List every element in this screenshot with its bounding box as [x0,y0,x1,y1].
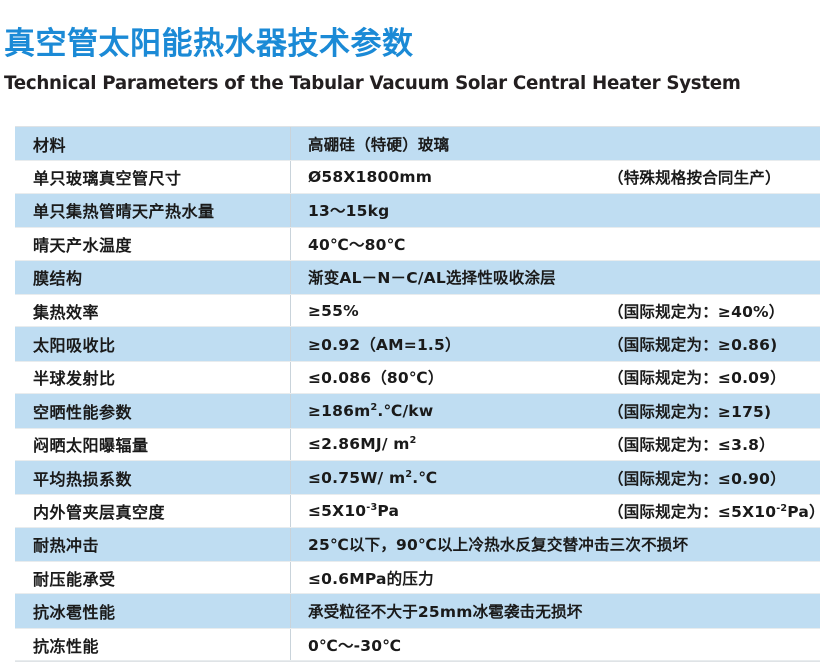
table-row: 材料高硼硅（特硬）玻璃 [15,127,820,160]
parameter-value: 渐变AL－N－C/AL选择性吸收涂层 [290,266,820,288]
parameter-label: 单只玻璃真空管尺寸 [15,165,290,189]
parameter-value: ≤0.6MPa的压力 [290,567,820,589]
table-row: 平均热损系数≤0.75W/ m2.℃（国际规定为：≤0.90） [15,461,820,494]
column-divider [290,161,291,192]
parameter-label: 耐压能承受 [15,566,290,590]
parameter-label: 内外管夹层真空度 [15,499,290,523]
parameter-label: 闷晒太阳曝辐量 [15,432,290,456]
column-divider [290,594,291,627]
table-row: 单只集热管晴天产热水量13～15kg [15,194,820,227]
table-row: 耐热冲击25℃以下，90℃以上冷热水反复交替冲击三次不损坏 [15,528,820,561]
parameter-value: ≤5X10-3Pa [290,502,608,520]
parameter-label: 膜结构 [15,265,290,289]
parameter-label: 抗冻性能 [15,633,290,657]
parameter-label: 平均热损系数 [15,466,290,490]
parameter-value: ≤2.86MJ/ m2 [290,435,608,453]
table-row: 闷晒太阳曝辐量≤2.86MJ/ m2（国际规定为：≤3.8） [15,428,820,461]
table-row: 集热效率≥55%（国际规定为：≥40%） [15,294,820,327]
parameter-label: 空晒性能参数 [15,399,290,423]
table-row: 晴天产水温度40℃～80℃ [15,227,820,260]
table-row: 抗冰雹性能承受粒径不大于25mm冰雹袭击无损坏 [15,594,820,627]
column-divider [290,461,291,494]
table-row: 内外管夹层真空度≤5X10-3Pa（国际规定为：≤5X10-2Pa） [15,494,820,527]
page-title-chinese: 真空管太阳能热水器技术参数 [4,18,414,63]
parameter-value: ≤0.086（80℃） [290,366,608,388]
table-row: 单只玻璃真空管尺寸Ø58X1800mm（特殊规格按合同生产） [15,160,820,193]
column-divider [290,228,291,259]
parameter-standard-note: （国际规定为：≥40%） [608,300,820,322]
parameter-label: 晴天产水温度 [15,232,290,256]
parameter-standard-note: （国际规定为：≤0.09） [608,366,820,388]
column-divider [290,429,291,460]
parameter-value: 25℃以下，90℃以上冷热水反复交替冲击三次不损坏 [290,533,820,555]
parameter-standard-note: （国际规定为：≤5X10-2Pa） [608,500,825,522]
parameter-label: 太阳吸收比 [15,332,290,356]
parameter-label: 单只集热管晴天产热水量 [15,198,290,222]
parameter-value: ≤0.75W/ m2.℃ [290,469,608,487]
parameter-standard-note: （国际规定为：≥0.86) [608,333,820,355]
column-divider [290,629,291,660]
parameter-value: 承受粒径不大于25mm冰雹袭击无损坏 [290,600,820,622]
column-divider [290,562,291,593]
parameter-label: 半球发射比 [15,365,290,389]
parameter-standard-note: （国际规定为：≥175) [608,400,820,422]
column-divider [290,394,291,427]
specification-table: 材料高硼硅（特硬）玻璃单只玻璃真空管尺寸Ø58X1800mm（特殊规格按合同生产… [15,126,820,662]
parameter-label: 抗冰雹性能 [15,599,290,623]
table-row: 抗冻性能0℃～-30℃ [15,628,820,661]
parameter-value: Ø58X1800mm [290,168,608,186]
column-divider [290,362,291,393]
column-divider [290,295,291,326]
table-row: 膜结构渐变AL－N－C/AL选择性吸收涂层 [15,261,820,294]
column-divider [290,327,291,360]
table-row: 耐压能承受≤0.6MPa的压力 [15,561,820,594]
table-row: 空晒性能参数≥186m2.℃/kw（国际规定为：≥175) [15,394,820,427]
parameter-value: 0℃～-30℃ [290,634,820,656]
parameter-value: ≥186m2.℃/kw [290,402,608,420]
parameter-standard-note: （国际规定为：≤3.8） [608,433,820,455]
parameters-document: 真空管太阳能热水器技术参数 Technical Parameters of th… [0,0,832,652]
parameter-standard-note: （特殊规格按合同生产） [608,166,820,188]
column-divider [290,261,291,294]
parameter-label: 耐热冲击 [15,532,290,556]
parameter-value: 高硼硅（特硬）玻璃 [290,133,820,155]
parameter-value: ≥55% [290,302,608,320]
column-divider [290,528,291,561]
parameter-value: 13～15kg [290,199,608,221]
page-title-english: Technical Parameters of the Tabular Vacu… [4,72,741,94]
parameter-value: 40℃～80℃ [290,233,608,255]
parameter-value: ≥0.92（AM=1.5） [290,333,608,355]
parameter-label: 集热效率 [15,299,290,323]
column-divider [290,495,291,526]
parameter-standard-note: （国际规定为：≤0.90） [608,467,820,489]
table-row: 半球发射比≤0.086（80℃）（国际规定为：≤0.09） [15,361,820,394]
column-divider [290,127,291,160]
column-divider [290,194,291,227]
table-row: 太阳吸收比≥0.92（AM=1.5）（国际规定为：≥0.86) [15,327,820,360]
parameter-label: 材料 [15,132,290,156]
